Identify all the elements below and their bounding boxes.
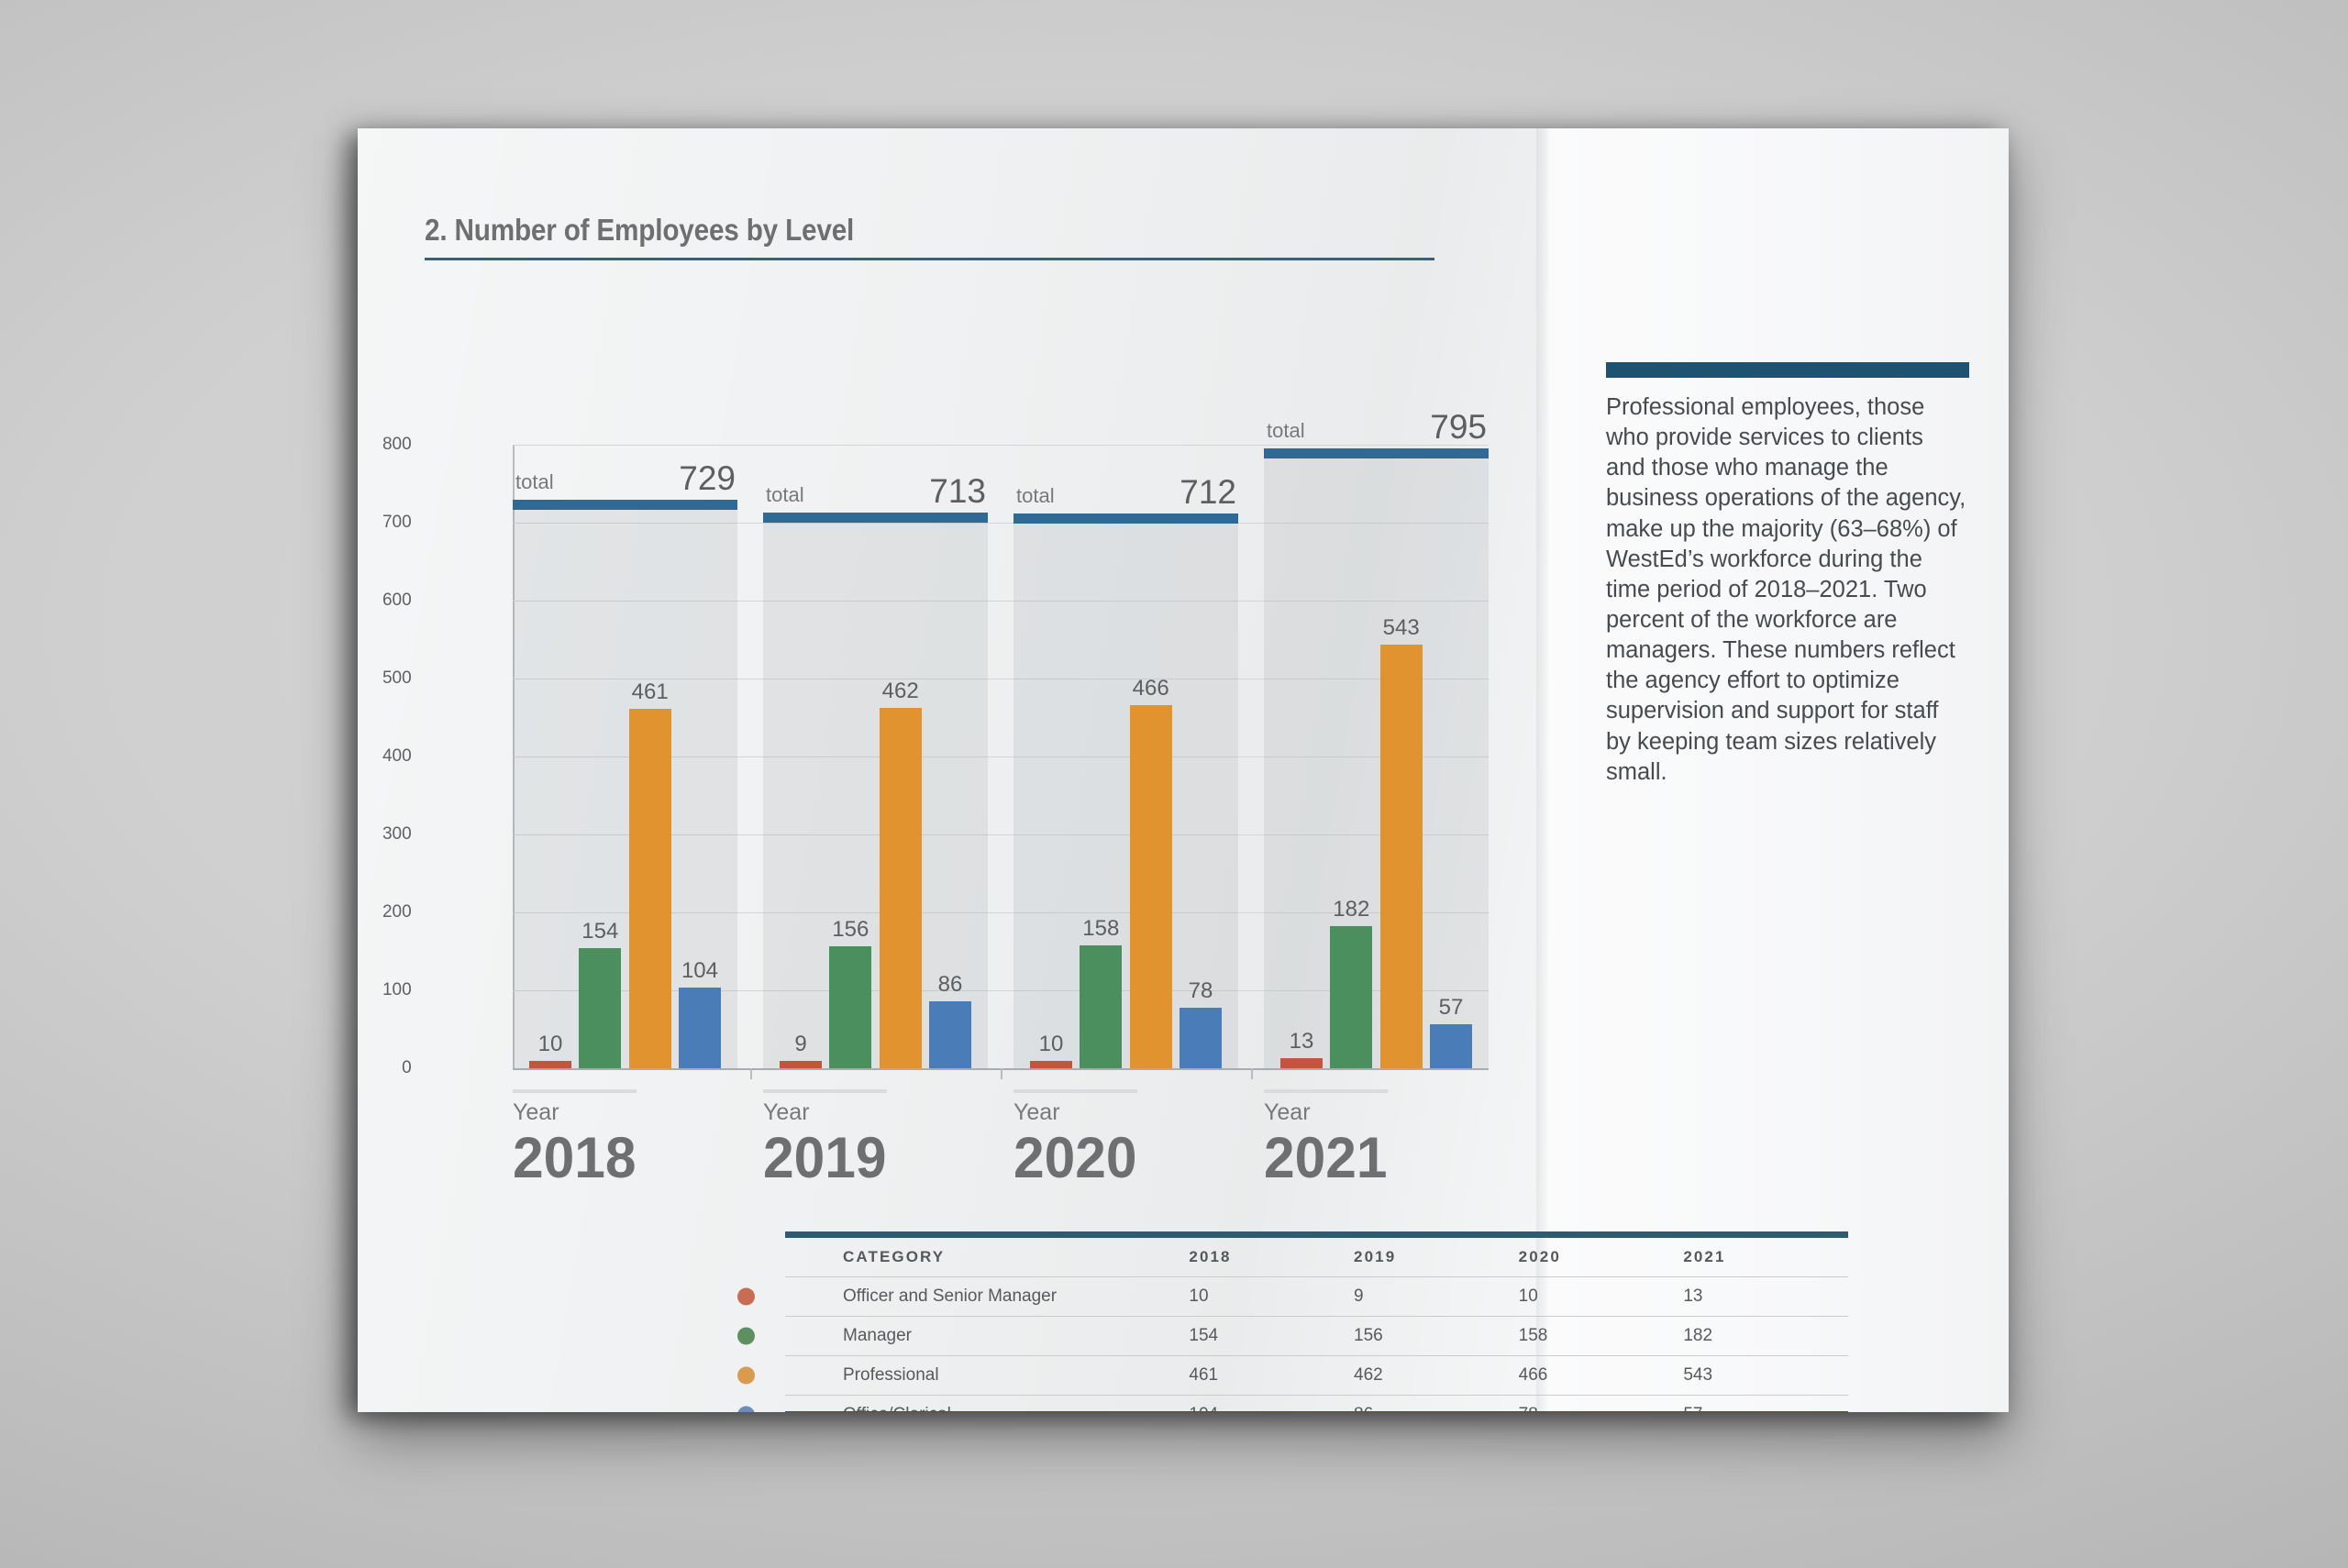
- bar-value: 9: [794, 1032, 806, 1057]
- bar-professional-2019: [880, 708, 922, 1068]
- bar-wrap: 461: [629, 445, 671, 1068]
- bar-wrap: 57: [1430, 445, 1472, 1068]
- legend-dot-icon: [737, 1328, 755, 1345]
- table-row: Manager154156158182: [785, 1317, 1848, 1356]
- row-category-label: Manager: [843, 1326, 912, 1345]
- bar-group-2021: total7951318254357: [1264, 445, 1489, 1068]
- bar-office-clerical-2020: [1180, 1008, 1222, 1068]
- year-caption-number: 2019: [763, 1130, 887, 1187]
- year-caption-number: 2018: [513, 1130, 637, 1187]
- y-tick-300: 300: [382, 824, 412, 845]
- document-sheet: 2. Number of Employees by Level total729…: [358, 128, 2009, 1412]
- page-title: 2. Number of Employees by Level: [425, 213, 854, 248]
- row-2021: 182: [1683, 1317, 1848, 1356]
- bar-manager-2021: [1330, 926, 1372, 1068]
- bar-wrap: 158: [1080, 445, 1122, 1068]
- row-category: Office/Clerical: [785, 1396, 1189, 1413]
- bars-2018: 10154461104: [513, 445, 737, 1068]
- table-top-rule: [785, 1231, 1848, 1238]
- bars-2019: 915646286: [763, 445, 988, 1068]
- bar-wrap: 78: [1180, 445, 1222, 1068]
- year-caption-word: Year: [513, 1101, 641, 1124]
- bar-manager-2018: [579, 948, 621, 1068]
- totals-2021: 795: [1683, 1411, 1715, 1412]
- bar-wrap: 13: [1280, 445, 1323, 1068]
- x-axis-tick: [750, 1068, 752, 1079]
- bar-professional-2021: [1380, 645, 1423, 1068]
- th-2019: 2019: [1354, 1240, 1519, 1277]
- bar-wrap: 86: [929, 445, 971, 1068]
- row-category: Officer and Senior Manager: [785, 1277, 1189, 1317]
- table-row: Professional461462466543: [785, 1356, 1848, 1396]
- bar-value: 182: [1333, 897, 1369, 922]
- totals-label: TOTALS: [843, 1411, 915, 1412]
- row-category: Manager: [785, 1317, 1189, 1356]
- row-2019: 86: [1354, 1396, 1519, 1413]
- total-label-2021: total: [1267, 419, 1305, 443]
- bar-wrap: 543: [1380, 445, 1423, 1068]
- bar-value: 104: [681, 958, 718, 984]
- row-category-label: Professional: [843, 1365, 939, 1385]
- y-tick-700: 700: [382, 513, 412, 533]
- bar-officer-and-senior-manager-2020: [1030, 1061, 1072, 1069]
- title-underline: [425, 258, 1434, 260]
- y-tick-0: 0: [402, 1058, 412, 1078]
- bar-wrap: 104: [679, 445, 721, 1068]
- chart-plot-area: total72910154461104total713915646286tota…: [513, 445, 1489, 1068]
- year-caption-word: Year: [1013, 1101, 1142, 1124]
- table-row: Office/Clerical104867857: [785, 1396, 1848, 1413]
- th-2021: 2021: [1683, 1240, 1848, 1277]
- totals-2019: 713: [1354, 1411, 1386, 1412]
- row-2020: 78: [1519, 1396, 1684, 1413]
- bar-professional-2018: [629, 709, 671, 1068]
- bar-wrap: 156: [829, 445, 871, 1068]
- data-table: CATEGORY 2018 2019 2020 2021 Officer and…: [785, 1231, 1848, 1412]
- year-caption-2021: Year2021: [1264, 1089, 1392, 1187]
- row-2019: 156: [1354, 1317, 1519, 1356]
- year-caption-number: 2020: [1013, 1130, 1137, 1187]
- totals-2020: 712: [1519, 1411, 1551, 1412]
- x-axis-tick: [1251, 1068, 1253, 1079]
- year-caption-rule: [513, 1089, 637, 1093]
- bar-value: 461: [632, 679, 669, 705]
- bar-professional-2020: [1130, 705, 1172, 1068]
- year-caption-rule: [1264, 1089, 1388, 1093]
- sidebar-body-text: Professional employees, those who provid…: [1606, 392, 1968, 788]
- row-2021: 13: [1683, 1277, 1848, 1317]
- th-2020: 2020: [1519, 1240, 1684, 1277]
- row-2019: 462: [1354, 1356, 1519, 1396]
- table-row: Officer and Senior Manager1091013: [785, 1277, 1848, 1317]
- legend-dot-icon: [737, 1407, 755, 1413]
- employees-by-level-chart: total72910154461104total713915646286tota…: [425, 445, 1489, 1068]
- year-caption-word: Year: [763, 1101, 892, 1124]
- year-captions: Year2018Year2019Year2020Year2021: [513, 1089, 1489, 1199]
- y-tick-100: 100: [382, 980, 412, 1000]
- totals-2018: 729: [1189, 1411, 1221, 1412]
- row-2018: 461: [1189, 1356, 1354, 1396]
- row-2018: 104: [1189, 1396, 1354, 1413]
- bars-2020: 1015846678: [1013, 445, 1238, 1068]
- year-caption-2020: Year2020: [1013, 1089, 1142, 1187]
- bar-wrap: 10: [529, 445, 571, 1068]
- y-tick-400: 400: [382, 746, 412, 767]
- table-header-row: CATEGORY 2018 2019 2020 2021: [785, 1240, 1848, 1277]
- bar-group-2018: total72910154461104: [513, 445, 737, 1068]
- table-head: CATEGORY 2018 2019 2020 2021: [785, 1240, 1848, 1277]
- bar-wrap: 462: [880, 445, 922, 1068]
- bar-officer-and-senior-manager-2019: [780, 1061, 822, 1068]
- bar-value: 154: [581, 919, 618, 944]
- bar-value: 86: [938, 972, 963, 998]
- table-totals-row: TOTALS 729 713 712 795: [785, 1411, 1848, 1412]
- row-category: Professional: [785, 1356, 1189, 1396]
- row-2020: 466: [1519, 1356, 1684, 1396]
- y-tick-600: 600: [382, 591, 412, 611]
- year-caption-rule: [1013, 1089, 1137, 1093]
- legend-dot-icon: [737, 1367, 755, 1385]
- employees-table: CATEGORY 2018 2019 2020 2021 Officer and…: [785, 1240, 1848, 1412]
- bar-value: 156: [832, 917, 869, 943]
- page-gutter: [1536, 128, 1549, 1412]
- bar-wrap: 10: [1030, 445, 1072, 1068]
- bar-wrap: 182: [1330, 445, 1372, 1068]
- bar-value: 13: [1290, 1029, 1314, 1055]
- bar-office-clerical-2019: [929, 1001, 971, 1068]
- year-caption-2018: Year2018: [513, 1089, 641, 1187]
- th-2018: 2018: [1189, 1240, 1354, 1277]
- th-category: CATEGORY: [785, 1240, 1189, 1277]
- bar-officer-and-senior-manager-2021: [1280, 1058, 1323, 1068]
- bar-wrap: 466: [1130, 445, 1172, 1068]
- bar-value: 466: [1133, 676, 1169, 701]
- year-caption-2019: Year2019: [763, 1089, 892, 1187]
- bar-value: 543: [1383, 615, 1420, 641]
- row-category-label: Officer and Senior Manager: [843, 1286, 1057, 1306]
- year-caption-rule: [763, 1089, 887, 1093]
- bar-wrap: 154: [579, 445, 621, 1068]
- sidebar-accent-bar: [1606, 362, 1969, 378]
- row-2018: 10: [1189, 1277, 1354, 1317]
- bar-value: 10: [1039, 1032, 1064, 1057]
- row-2019: 9: [1354, 1277, 1519, 1317]
- bar-value: 10: [538, 1032, 563, 1057]
- bar-value: 158: [1082, 916, 1119, 942]
- bar-manager-2020: [1080, 945, 1122, 1068]
- bar-office-clerical-2021: [1430, 1024, 1472, 1068]
- table-body: Officer and Senior Manager1091013Manager…: [785, 1277, 1848, 1413]
- year-caption-number: 2021: [1264, 1130, 1388, 1187]
- left-page: 2. Number of Employees by Level total729…: [358, 128, 1536, 1412]
- row-2020: 10: [1519, 1277, 1684, 1317]
- y-tick-200: 200: [382, 902, 412, 922]
- total-value-2021: 795: [1430, 408, 1487, 447]
- bar-wrap: 9: [780, 445, 822, 1068]
- y-tick-500: 500: [382, 668, 412, 689]
- row-2020: 158: [1519, 1317, 1684, 1356]
- x-axis-tick: [1001, 1068, 1002, 1079]
- bar-officer-and-senior-manager-2018: [529, 1061, 571, 1069]
- row-2021: 543: [1683, 1356, 1848, 1396]
- bar-value: 78: [1189, 978, 1213, 1004]
- bar-group-2020: total7121015846678: [1013, 445, 1238, 1068]
- bar-manager-2019: [829, 946, 871, 1068]
- legend-dot-icon: [737, 1288, 755, 1306]
- bar-value: 57: [1439, 995, 1464, 1021]
- row-2021: 57: [1683, 1396, 1848, 1413]
- bar-office-clerical-2018: [679, 988, 721, 1068]
- bar-group-2019: total713915646286: [763, 445, 988, 1068]
- y-tick-800: 800: [382, 435, 412, 455]
- bar-value: 462: [882, 679, 919, 704]
- year-caption-word: Year: [1264, 1101, 1392, 1124]
- bars-2021: 1318254357: [1264, 445, 1489, 1068]
- row-2018: 154: [1189, 1317, 1354, 1356]
